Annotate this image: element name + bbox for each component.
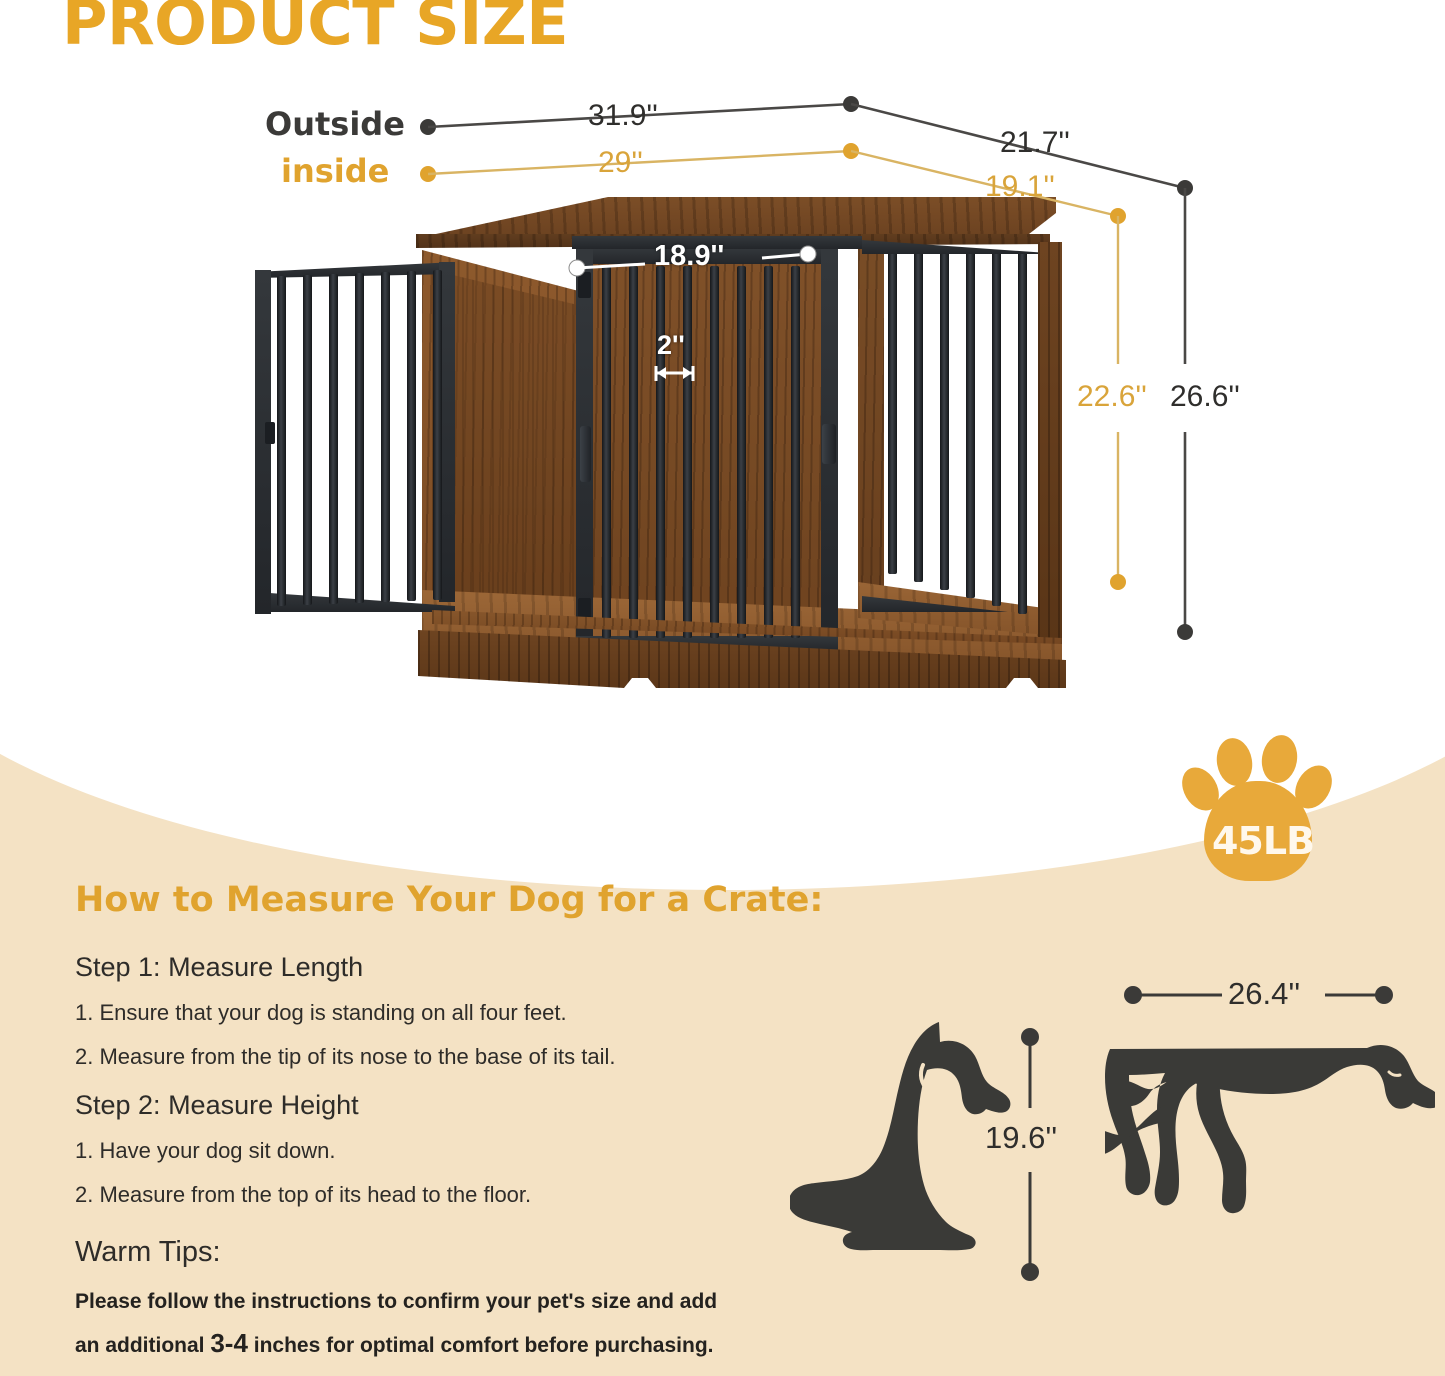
crate-right-rear-post (858, 246, 884, 616)
open-door-bar (303, 275, 312, 605)
standing-dog-silhouette (1105, 1030, 1435, 1280)
paw-toe (1258, 733, 1300, 786)
door-bar (656, 266, 665, 638)
tips-line-2: an additional 3-4 inches for optimal com… (75, 1328, 713, 1359)
tips-title: Warm Tips: (75, 1236, 221, 1269)
step-1-title: Step 1: Measure Length (75, 952, 363, 983)
legend-inside-label: inside (281, 152, 389, 190)
dim-door-width: 18.9'' (654, 240, 724, 273)
dim-inside-height: 22.6'' (1077, 380, 1147, 414)
door-bar (764, 266, 773, 638)
step-2-line-2: 2. Measure from the top of its head to t… (75, 1182, 531, 1208)
crate-bar (888, 252, 897, 574)
door-bar (791, 266, 800, 638)
open-door-bar (355, 273, 364, 603)
dim-dog-height: 19.6'' (985, 1120, 1057, 1156)
crate-bar (940, 252, 949, 590)
door-bar (602, 266, 611, 638)
crate-open-left-door[interactable] (255, 262, 455, 630)
crate-bar (992, 252, 1001, 606)
page-title: PRODUCT SIZE (62, 0, 568, 59)
crate-bar (914, 252, 923, 582)
tips-line-1: Please follow the instructions to confir… (75, 1290, 717, 1314)
open-door-bar (329, 274, 338, 604)
door-handle[interactable] (580, 426, 591, 482)
weight-badge-paw: 45LB (1178, 726, 1348, 886)
dim-inside-width: 29'' (598, 146, 643, 180)
open-door-bar (433, 270, 442, 600)
door-hinge-top (578, 272, 591, 298)
door-bar-group (596, 266, 818, 638)
dim-outside-width: 31.9'' (588, 99, 658, 133)
door-bar (683, 266, 692, 638)
open-door-bar (381, 272, 390, 602)
dim-dog-length: 26.4'' (1228, 976, 1300, 1012)
tips-line-2-part-a: an additional (75, 1334, 210, 1357)
open-door-hinge-pin (265, 422, 275, 444)
open-door-bar-group (273, 268, 441, 606)
crate-right-corner-post (1038, 242, 1062, 642)
weight-badge-label: 45LB (1178, 819, 1348, 863)
crate-bar (1018, 252, 1027, 614)
dim-bar-spacing: 2'' (657, 330, 685, 361)
tips-line-2-part-c: inches for optimal comfort before purcha… (248, 1334, 714, 1357)
open-door-bar (407, 271, 416, 601)
guide-heading: How to Measure Your Dog for a Crate: (75, 880, 823, 920)
door-bar (710, 266, 719, 638)
door-bar (629, 266, 638, 638)
dim-outside-depth: 21.7'' (1000, 126, 1070, 160)
infographic-canvas: PRODUCT SIZE (0, 0, 1445, 1376)
crate-bar (966, 252, 975, 598)
legend-outside-label: Outside (265, 105, 405, 143)
crate-front-door[interactable] (576, 248, 838, 652)
step-1-line-1: 1. Ensure that your dog is standing on a… (75, 1000, 567, 1026)
step-2-line-1: 1. Have your dog sit down. (75, 1138, 335, 1164)
door-bar (737, 266, 746, 638)
crate-right-bar-group (884, 248, 1060, 608)
dim-inside-depth: 19.1'' (985, 170, 1055, 204)
tips-extra-inches: 3-4 (210, 1328, 248, 1358)
open-door-bar (277, 276, 286, 606)
door-latch[interactable] (822, 424, 836, 464)
dim-outside-height: 26.6'' (1170, 380, 1240, 414)
step-1-line-2: 2. Measure from the tip of its nose to t… (75, 1044, 616, 1070)
step-2-title: Step 2: Measure Height (75, 1090, 359, 1121)
